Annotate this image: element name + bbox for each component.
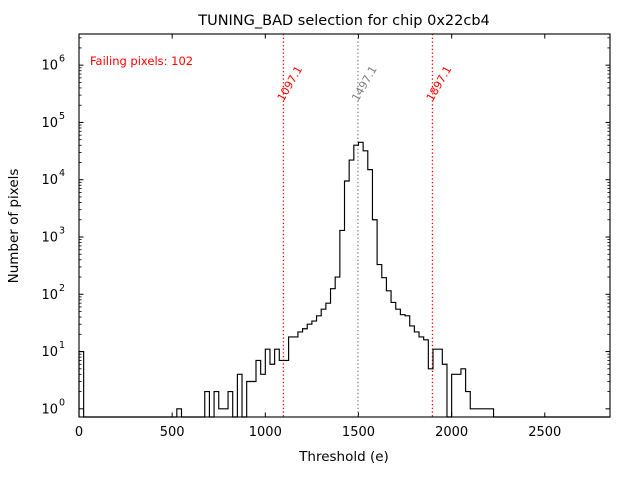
y-tick-label: 103 [41,225,65,245]
y-tick-label: 100 [41,397,65,417]
threshold-marker-labels: 1097.11497.11897.1 [275,64,455,104]
svg-text:5: 5 [59,111,65,122]
svg-text:10: 10 [41,230,58,245]
figure-canvas: TUNING_BAD selection for chip 0x22cb4 Th… [0,0,640,480]
x-tick-label: 0 [75,425,83,440]
svg-text:10: 10 [41,59,58,74]
svg-text:10: 10 [41,173,58,188]
x-tick-label: 500 [160,425,185,440]
histogram-plot: TUNING_BAD selection for chip 0x22cb4 Th… [0,0,640,480]
y-axis-ticks: 100101102103104105106 [41,54,610,418]
svg-text:6: 6 [59,54,65,65]
svg-text:1: 1 [59,340,65,351]
threshold-vline-label: 1497.1 [349,64,380,104]
failing-pixels-annotation: Failing pixels: 102 [90,54,193,68]
x-tick-label: 2500 [528,425,561,440]
threshold-vline-label: 1897.1 [424,64,455,104]
svg-text:4: 4 [59,168,65,179]
svg-text:3: 3 [59,225,65,236]
y-tick-label: 106 [41,54,65,74]
page-title: TUNING_BAD selection for chip 0x22cb4 [197,13,490,29]
svg-text:2: 2 [59,283,65,294]
histogram-step-curve [79,142,610,417]
y-tick-label: 101 [41,340,65,360]
x-tick-label: 1500 [342,425,375,440]
y-tick-label: 105 [41,111,65,131]
x-axis-ticks: 05001000150020002500 [75,34,561,440]
y-axis-label: Number of pixels [6,169,22,284]
svg-text:10: 10 [41,116,58,131]
x-axis-label: Threshold (e) [298,449,389,465]
threshold-vline-label: 1097.1 [275,64,306,104]
y-tick-label: 102 [41,283,65,303]
svg-text:10: 10 [41,288,58,303]
svg-text:10: 10 [41,345,58,360]
svg-text:0: 0 [59,397,65,408]
y-tick-label: 104 [41,168,65,188]
x-tick-label: 1000 [249,425,282,440]
svg-text:10: 10 [41,402,58,417]
x-tick-label: 2000 [435,425,468,440]
